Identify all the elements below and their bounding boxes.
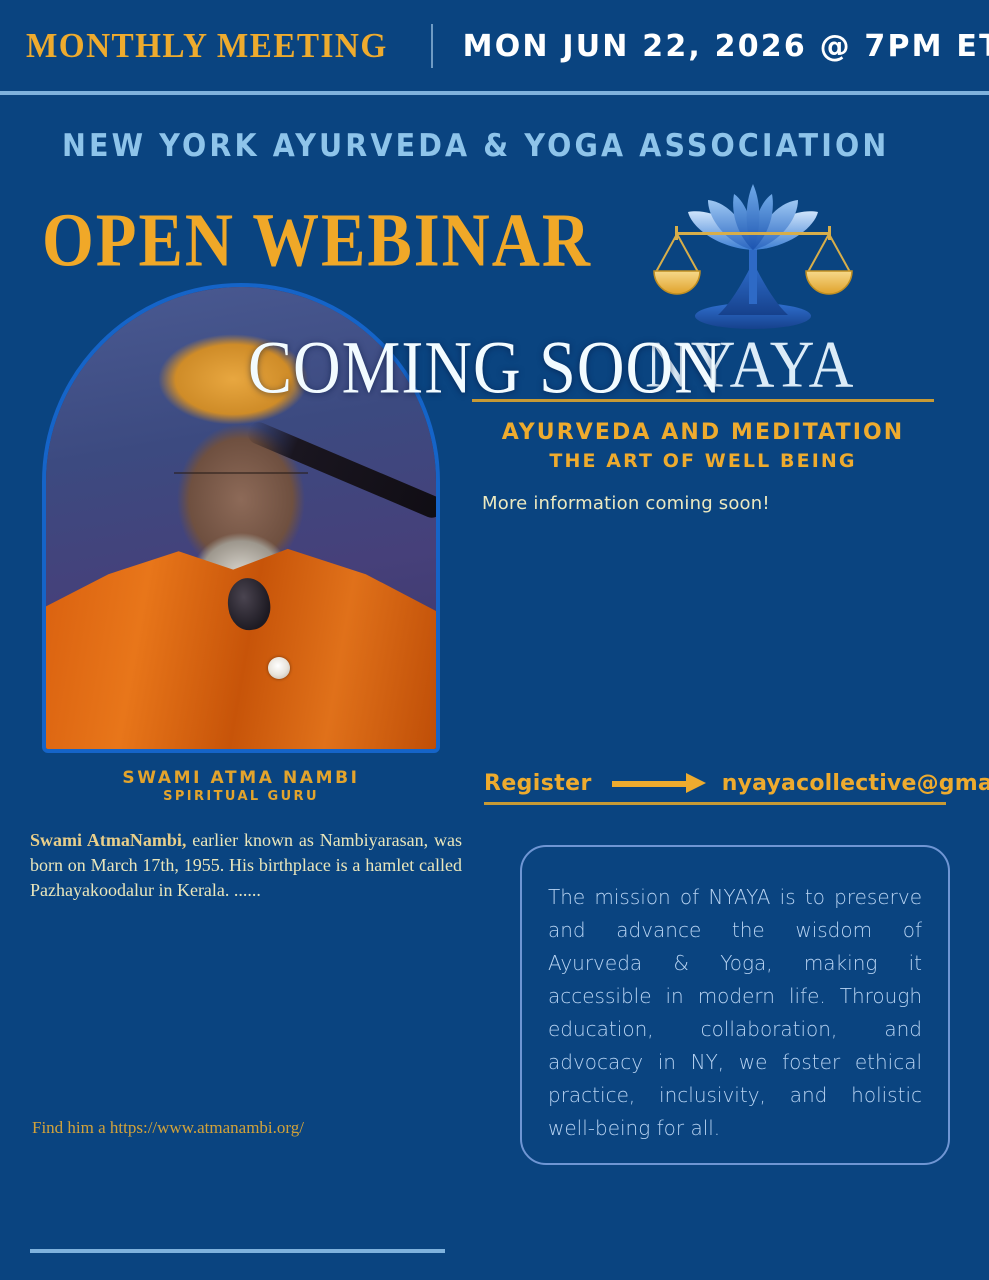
monthly-meeting-label: MONTHLY MEETING <box>26 26 388 66</box>
brand-tagline-primary: AYURVEDA AND MEDITATION <box>472 420 934 445</box>
bottom-rule <box>30 1249 445 1253</box>
register-email[interactable]: nyayacollective@gmail.com <box>722 771 989 796</box>
register-row[interactable]: Register nyayacollective@gmail.com <box>484 766 946 800</box>
speaker-website-link[interactable]: Find him a https://www.atmanambi.org/ <box>32 1118 304 1138</box>
register-rule <box>484 802 946 805</box>
header-rule <box>0 91 989 95</box>
mission-statement-text: The mission of NYAYA is to preserve and … <box>548 881 922 1145</box>
event-type-heading: OPEN WEBINAR <box>42 196 592 284</box>
header-divider <box>431 24 433 68</box>
arrow-right-icon <box>612 779 706 787</box>
speaker-bio: Swami AtmaNambi, earlier known as Nambiy… <box>30 828 462 903</box>
meeting-date-time: MON JUN 22, 2026 @ 7PM ET <box>463 29 989 64</box>
portrait-glasses <box>174 472 308 492</box>
brand-tagline-secondary: THE ART OF WELL BEING <box>472 450 934 472</box>
header-band: MONTHLY MEETING MON JUN 22, 2026 @ 7PM E… <box>0 0 989 92</box>
portrait-pendant <box>268 657 290 679</box>
association-title: NEW YORK AYURVEDA & YOGA ASSOCIATION <box>62 128 889 164</box>
more-info-note: More information coming soon! <box>482 493 770 514</box>
register-label: Register <box>484 771 592 796</box>
webinar-poster: MONTHLY MEETING MON JUN 22, 2026 @ 7PM E… <box>0 0 989 1280</box>
coming-soon-heading: COMING SOON <box>248 325 723 412</box>
speaker-role: SPIRITUAL GURU <box>42 789 440 804</box>
speaker-bio-lead: Swami AtmaNambi, <box>30 830 186 850</box>
lotus-scales-logo-icon <box>648 176 858 341</box>
speaker-name: SWAMI ATMA NAMBI <box>42 768 440 788</box>
mission-statement-box: The mission of NYAYA is to preserve and … <box>520 845 950 1165</box>
